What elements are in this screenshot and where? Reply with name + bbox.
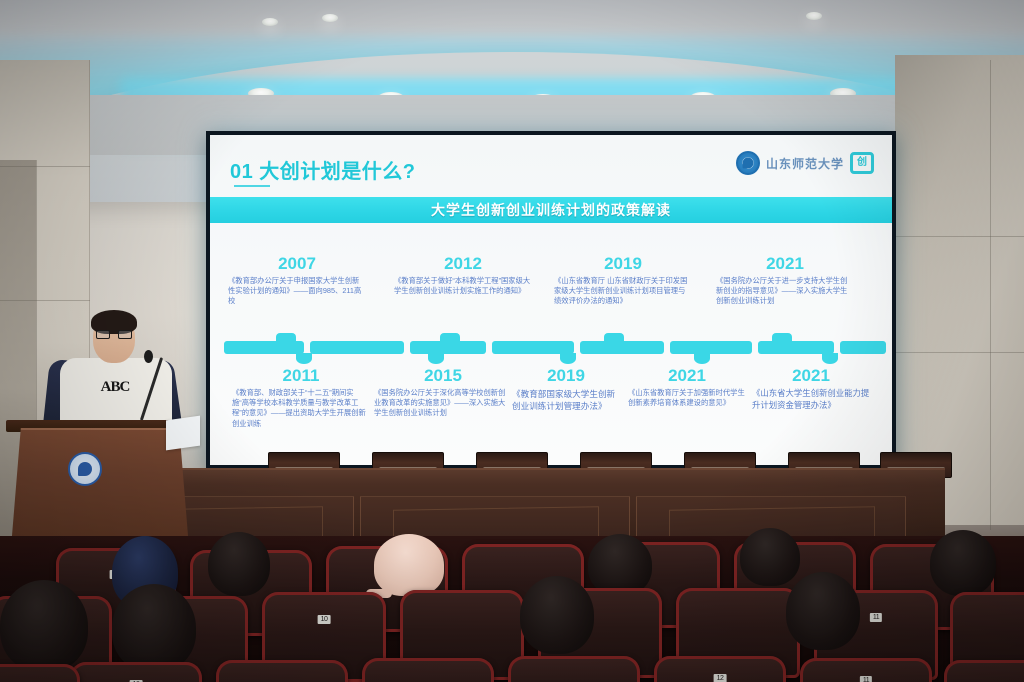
audience-area: 10 11 12 10 11	[0, 536, 1024, 682]
seat-number: 11	[860, 676, 872, 682]
projection-screen: 01 大创计划是什么? 山东师范大学 创 大学生创新创业训练计划的政策解读 20…	[206, 131, 896, 469]
timeline-year: 2021	[746, 367, 876, 386]
audience-head	[0, 580, 88, 672]
timeline-year: 2021	[622, 367, 752, 386]
timeline-year: 2007	[222, 255, 372, 274]
timeline-node-bottom: 2021 《山东省大学生创新创业能力提升计划资金管理办法》	[746, 367, 876, 412]
timeline-node-bottom: 2019 《教育部国家级大学生创新创业训练计划管理办法》	[506, 367, 626, 412]
timeline-node-bottom: 2011 《教育部、财政部关于“十二五”期间实施“高等学校本科教学质量与教学改革…	[226, 367, 376, 429]
audience-head	[520, 576, 594, 654]
timeline-segment	[670, 341, 752, 354]
timeline-year: 2015	[368, 367, 518, 386]
ceiling-spotlight-icon	[322, 14, 338, 22]
timeline-marker-down	[822, 353, 838, 364]
seat-number: 11	[870, 613, 882, 622]
timeline-marker-down	[428, 353, 444, 364]
banner-title: 大学生创新创业训练计划的政策解读	[431, 200, 671, 220]
timeline-node-top: 2021 《国务院办公厅关于进一步支持大学生创新创业的指导意见》——深入实施大学…	[710, 255, 860, 307]
timeline-year: 2012	[388, 255, 538, 274]
audience-head	[930, 530, 996, 596]
audience-seat	[216, 660, 348, 682]
timeline-marker-down	[296, 353, 312, 364]
speaker-glasses-icon	[96, 330, 132, 339]
timeline-segment	[310, 341, 404, 354]
lecture-hall-photo: 01 大创计划是什么? 山东师范大学 创 大学生创新创业训练计划的政策解读 20…	[0, 0, 1024, 682]
timeline-node-top: 2019 《山东省教育厅 山东省财政厅关于印发国家级大学生创新创业训练计划项目管…	[548, 255, 698, 307]
timeline-segment	[580, 341, 664, 354]
slide-banner: 大学生创新创业训练计划的政策解读	[210, 197, 892, 223]
wall-seam	[896, 352, 1024, 353]
wall-seam	[0, 166, 90, 167]
timeline-marker-up	[440, 333, 460, 342]
timeline-segment	[840, 341, 886, 354]
timeline-node-bottom: 2021 《山东省教育厅关于加强新时代学生创新素养培育体系建设的意见》	[622, 367, 752, 408]
university-name: 山东师范大学	[766, 155, 844, 172]
timeline-node-top: 2007 《教育部办公厅关于申报国家大学生创新性实验计划的通知》——面向985、…	[222, 255, 372, 307]
speaker-shirt-graphic: ABC	[82, 378, 148, 412]
timeline-text: 《教育部、财政部关于“十二五”期间实施“高等学校本科教学质量与教学改革工程”的意…	[226, 388, 376, 429]
timeline-bar	[224, 341, 878, 354]
seat-number: 10	[318, 615, 331, 624]
timeline-year: 2011	[226, 367, 376, 386]
slide-canvas: 01 大创计划是什么? 山东师范大学 创 大学生创新创业训练计划的政策解读 20…	[210, 135, 892, 465]
audience-head	[786, 572, 860, 650]
audience-head	[740, 528, 800, 586]
timeline-segment	[410, 341, 486, 354]
timeline-text: 《教育部国家级大学生创新创业训练计划管理办法》	[506, 388, 626, 412]
timeline-year: 2019	[506, 367, 626, 386]
timeline-segment	[224, 341, 304, 354]
timeline-node-bottom: 2015 《国务院办公厅关于深化高等学校创新创业教育改革的实施意见》——深入实施…	[368, 367, 518, 419]
audience-head-with-cap	[374, 534, 444, 596]
ceiling-spotlight-icon	[806, 12, 822, 20]
timeline-marker-up	[604, 333, 624, 342]
timeline-year: 2021	[710, 255, 860, 274]
slide-logo-group: 山东师范大学 创	[736, 149, 874, 177]
timeline-text: 《教育部关于做好“本科教学工程”国家级大学生创新创业训练计划实施工作的通知》	[388, 276, 538, 297]
timeline-text: 《国务院办公厅关于深化高等学校创新创业教育改革的实施意见》——深入实施大学生创新…	[368, 388, 518, 419]
audience-head	[208, 532, 270, 596]
presenter-notes-paper	[166, 416, 200, 451]
timeline-marker-up	[772, 333, 792, 342]
chuang-mark-icon: 创	[850, 152, 874, 174]
timeline-marker-up	[276, 333, 296, 342]
slide-title: 01 大创计划是什么?	[230, 155, 416, 184]
timeline-text: 《山东省教育厅关于加强新时代学生创新素养培育体系建设的意见》	[622, 388, 752, 409]
timeline-node-top: 2012 《教育部关于做好“本科教学工程”国家级大学生创新创业训练计划实施工作的…	[388, 255, 538, 296]
audience-seat	[362, 658, 494, 682]
audience-seat	[508, 656, 640, 682]
timeline-text: 《教育部办公厅关于申报国家大学生创新性实验计划的通知》——面向985、211高校	[222, 276, 372, 307]
wall-seam	[990, 60, 991, 530]
timeline-text: 《山东省大学生创新创业能力提升计划资金管理办法》	[746, 388, 876, 412]
audience-seat	[944, 660, 1024, 682]
audience-seat	[0, 664, 80, 682]
wall-seam	[0, 300, 90, 301]
microphone-head-icon	[144, 350, 153, 363]
podium-university-seal-icon	[68, 452, 102, 486]
timeline-year: 2019	[548, 255, 698, 274]
timeline-text: 《国务院办公厅关于进一步支持大学生创新创业的指导意见》——深入实施大学生创新创业…	[710, 276, 860, 307]
audience-seat: 10	[70, 662, 202, 682]
audience-head	[588, 534, 652, 596]
timeline-text: 《山东省教育厅 山东省财政厅关于印发国家级大学生创新创业训练计划项目管理与绩效评…	[548, 276, 698, 307]
audience-seat: 11	[800, 658, 932, 682]
title-underline	[234, 185, 270, 187]
seat-number: 12	[714, 674, 727, 682]
timeline-marker-down	[560, 353, 576, 364]
university-seal-icon	[736, 151, 760, 175]
audience-head	[112, 584, 196, 672]
timeline: 2007 《教育部办公厅关于申报国家大学生创新性实验计划的通知》——面向985、…	[210, 227, 892, 465]
wall-seam	[896, 236, 1024, 237]
audience-seat: 12	[654, 656, 786, 682]
timeline-marker-down	[694, 353, 710, 364]
ceiling-spotlight-icon	[262, 18, 278, 26]
